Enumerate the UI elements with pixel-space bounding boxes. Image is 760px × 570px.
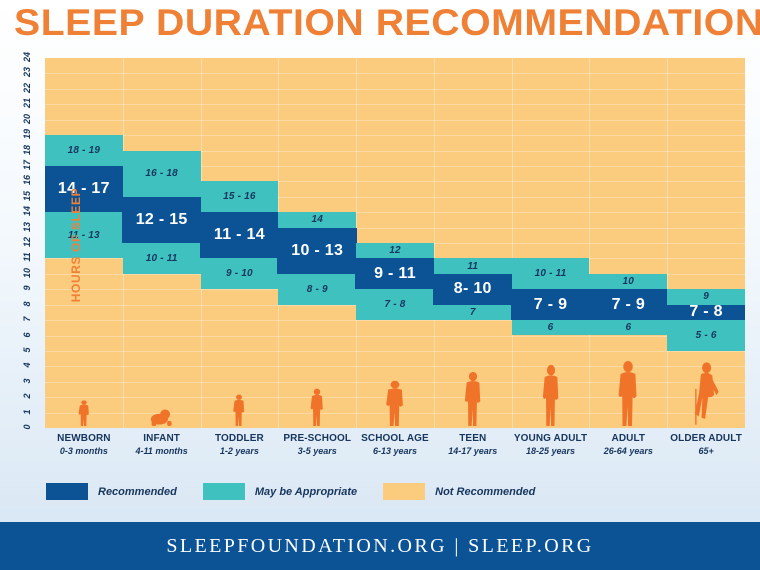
category-age-range: 3-5 years	[278, 446, 356, 456]
band-label: 7 - 9	[612, 296, 646, 314]
y-axis-tick-label: 3	[22, 372, 32, 390]
age-group-figure	[539, 364, 563, 426]
band-label: 9 - 11	[374, 265, 416, 283]
band-label: 14	[311, 214, 323, 225]
legend-swatch	[383, 483, 425, 500]
x-axis-category: SCHOOL AGE6-13 years	[356, 433, 434, 456]
legend-label: Not Recommended	[435, 486, 535, 498]
category-age-range: 18-25 years	[512, 446, 590, 456]
band-recommended: 14 - 17	[45, 166, 124, 212]
band-label: 12 - 15	[136, 211, 188, 229]
band-recommended: 11 - 14	[200, 212, 280, 258]
chart-plot-area: 18 - 1911 - 1314 - 17 16 - 1810 - 1112 -…	[45, 58, 745, 428]
y-axis-tick-label: 11	[22, 248, 32, 266]
band-may-be-appropriate-lower: 10 - 11	[123, 243, 201, 274]
category-name: PRE-SCHOOL	[278, 433, 356, 444]
chart-column[interactable]: 127 - 89 - 11	[356, 58, 434, 428]
category-name: INFANT	[123, 433, 201, 444]
band-recommended: 7 - 8	[666, 305, 745, 320]
silhouette-adult	[614, 360, 642, 426]
age-group-figure	[308, 388, 327, 426]
x-axis-category: PRE-SCHOOL3-5 years	[278, 433, 356, 456]
x-axis-category: ADULT26-64 years	[589, 433, 667, 456]
age-group-figure	[76, 400, 92, 426]
age-group-figure	[614, 360, 642, 426]
chart-column[interactable]: 10 - 1167 - 9	[512, 58, 590, 428]
band-label: 10 - 13	[291, 242, 343, 260]
band-label: 11	[467, 261, 478, 272]
chart-column[interactable]: 18 - 1911 - 1314 - 17	[45, 58, 123, 428]
category-name: NEWBORN	[45, 433, 123, 444]
category-name: TODDLER	[201, 433, 279, 444]
chart-column[interactable]: 1067 - 9	[589, 58, 667, 428]
age-group-figure	[691, 362, 721, 426]
band-label: 8 - 9	[307, 284, 328, 295]
y-axis-tick-label: 1	[22, 403, 32, 421]
legend-swatch	[203, 483, 245, 500]
y-axis-tick-label: 23	[22, 63, 32, 81]
band-may-be-appropriate-upper: 14	[278, 212, 356, 227]
footer-website-text: SLEEPFOUNDATION.ORG | SLEEP.ORG	[166, 535, 593, 558]
silhouette-preschooler	[308, 388, 327, 426]
x-axis-category: TEEN14-17 years	[434, 433, 512, 456]
band-label: 10	[623, 276, 635, 287]
x-axis-category: TODDLER1-2 years	[201, 433, 279, 456]
y-axis-tick-label: 8	[22, 295, 32, 313]
category-name: ADULT	[589, 433, 667, 444]
x-axis-labels: NEWBORN0-3 monthsINFANT4-11 monthsTODDLE…	[45, 433, 745, 473]
footer-bar: SLEEPFOUNDATION.ORG | SLEEP.ORG	[0, 522, 760, 570]
y-axis-tick-label: 10	[22, 264, 32, 282]
band-label: 10 - 11	[535, 268, 567, 279]
band-may-be-appropriate-upper: 11	[434, 258, 512, 273]
y-axis-tick-label: 20	[22, 110, 32, 128]
x-axis-category: NEWBORN0-3 months	[45, 433, 123, 456]
band-may-be-appropriate-lower: 5 - 6	[667, 320, 745, 351]
band-label: 7 - 8	[689, 303, 723, 321]
x-axis-category: INFANT4-11 months	[123, 433, 201, 456]
silhouette-baby	[76, 400, 92, 426]
silhouette-older-adult	[691, 362, 721, 426]
band-label: 16 - 18	[145, 168, 178, 179]
band-may-be-appropriate-upper: 15 - 16	[201, 181, 279, 212]
band-label: 6	[548, 322, 554, 333]
band-may-be-appropriate-lower: 7	[434, 305, 512, 320]
band-label: 7 - 8	[384, 299, 405, 310]
age-group-figure	[382, 380, 408, 426]
band-label: 10 - 11	[146, 253, 178, 264]
band-may-be-appropriate-lower: 7 - 8	[356, 289, 434, 320]
band-label: 6	[625, 322, 631, 333]
category-age-range: 26-64 years	[589, 446, 667, 456]
x-axis-category: OLDER ADULT65+	[667, 433, 745, 456]
band-recommended: 7 - 9	[511, 289, 591, 320]
band-label: 9 - 10	[226, 268, 253, 279]
chart-column[interactable]: 16 - 1810 - 1112 - 15	[123, 58, 201, 428]
band-may-be-appropriate-lower: 6	[589, 320, 667, 335]
chart-column[interactable]: 15 - 169 - 1011 - 14	[201, 58, 279, 428]
chart-column[interactable]: 148 - 910 - 13	[278, 58, 356, 428]
category-age-range: 14-17 years	[434, 446, 512, 456]
band-label: 8- 10	[454, 280, 492, 298]
sleep-duration-chart: 18 - 1911 - 1314 - 17 16 - 1810 - 1112 -…	[45, 58, 745, 428]
y-axis-tick-label: 22	[22, 79, 32, 97]
band-may-be-appropriate-lower: 11 - 13	[45, 212, 123, 258]
y-axis-title: HOURS OF SLEEP	[69, 180, 83, 310]
age-group-figure	[149, 408, 175, 426]
category-age-range: 6-13 years	[356, 446, 434, 456]
band-recommended: 7 - 9	[588, 289, 668, 320]
legend-label: May be Appropriate	[255, 486, 357, 498]
band-may-be-appropriate-upper: 9	[667, 289, 745, 304]
legend-swatch	[46, 483, 88, 500]
band-may-be-appropriate-lower: 8 - 9	[278, 274, 356, 305]
y-axis-tick-label: 18	[22, 141, 32, 159]
y-axis-tick-label: 4	[22, 356, 32, 374]
band-label: 18 - 19	[68, 145, 101, 156]
category-age-range: 4-11 months	[123, 446, 201, 456]
chart-legend: RecommendedMay be AppropriateNot Recomme…	[46, 483, 561, 500]
legend-item: May be Appropriate	[203, 483, 357, 500]
category-age-range: 0-3 months	[45, 446, 123, 456]
band-recommended: 10 - 13	[277, 228, 357, 274]
band-may-be-appropriate-lower: 6	[512, 320, 590, 335]
band-may-be-appropriate-lower: 9 - 10	[201, 258, 279, 289]
band-label: 7	[470, 307, 476, 318]
band-recommended: 9 - 11	[355, 258, 435, 289]
band-label: 7 - 9	[534, 296, 568, 314]
y-axis-tick-label: 24	[22, 48, 32, 66]
y-axis-tick-label: 15	[22, 187, 32, 205]
legend-item: Recommended	[46, 483, 177, 500]
band-may-be-appropriate-upper: 12	[356, 243, 434, 258]
band-label: 15 - 16	[223, 191, 256, 202]
band-label: 12	[389, 245, 401, 256]
band-may-be-appropriate-upper: 18 - 19	[45, 135, 123, 166]
band-label: 9	[703, 291, 709, 302]
category-name: OLDER ADULT	[667, 433, 745, 444]
silhouette-crawling-baby	[149, 408, 175, 426]
category-name: YOUNG ADULT	[512, 433, 590, 444]
category-name: TEEN	[434, 433, 512, 444]
band-recommended: 8- 10	[433, 274, 513, 305]
legend-label: Recommended	[98, 486, 177, 498]
band-label: 5 - 6	[696, 330, 717, 341]
band-label: 11 - 14	[214, 226, 265, 244]
chart-column[interactable]: 95 - 67 - 8	[667, 58, 745, 428]
page-title: SLEEP DURATION RECOMMENDATIONS	[14, 2, 760, 44]
x-axis-category: YOUNG ADULT18-25 years	[512, 433, 590, 456]
age-group-figure	[231, 394, 248, 426]
silhouette-teen	[461, 371, 485, 426]
silhouette-school-child	[382, 380, 408, 426]
band-may-be-appropriate-upper: 10 - 11	[512, 258, 590, 289]
band-label: 14 - 17	[58, 180, 110, 198]
band-may-be-appropriate-upper: 10	[589, 274, 667, 289]
category-age-range: 65+	[667, 446, 745, 456]
band-recommended: 12 - 15	[122, 197, 202, 243]
y-axis-tick-label: 13	[22, 218, 32, 236]
chart-column[interactable]: 1178- 10	[434, 58, 512, 428]
category-name: SCHOOL AGE	[356, 433, 434, 444]
legend-item: Not Recommended	[383, 483, 535, 500]
y-axis-tick-label: 16	[22, 171, 32, 189]
category-age-range: 1-2 years	[201, 446, 279, 456]
y-axis-tick-label: 6	[22, 326, 32, 344]
silhouette-toddler	[231, 394, 248, 426]
band-may-be-appropriate-upper: 16 - 18	[123, 151, 201, 197]
age-group-figure	[461, 371, 485, 426]
silhouette-young-adult	[539, 364, 563, 426]
